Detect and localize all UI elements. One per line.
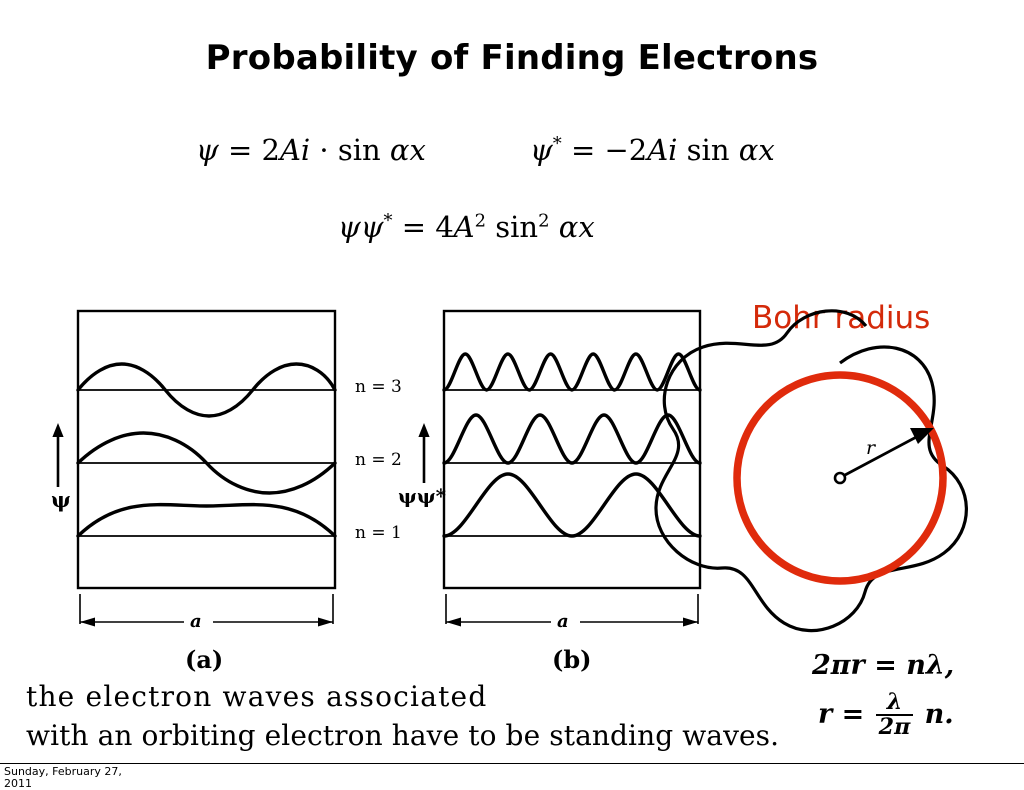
- bohr-radius-arrow-label: r: [866, 437, 875, 459]
- bohr-orbit-diagram: [656, 311, 966, 631]
- panel-a-dimension: [80, 594, 333, 627]
- panel-a-level-label-n3: n = 3: [355, 377, 402, 397]
- equation-circumference-lhs: 2πr: [812, 650, 865, 681]
- panel-a-y-axis-label: ψ: [51, 487, 71, 512]
- panel-a-y-axis-arrow: [52, 423, 63, 487]
- panel-a-level-label-n2: n = 2: [355, 450, 402, 470]
- panel-b-density-n3: [444, 354, 700, 390]
- panel-b: [418, 311, 700, 627]
- panel-a-wave-n1: [78, 505, 335, 536]
- equation-radius-fraction: λ 2π: [876, 691, 914, 738]
- radius-arrow: [845, 428, 934, 475]
- footer-divider: [0, 763, 1024, 764]
- panel-b-y-axis-arrow: [418, 423, 429, 483]
- panel-b-y-axis-label: ψψ*: [398, 484, 446, 508]
- panel-a-caption: (a): [185, 645, 223, 674]
- panel-b-dimension: [446, 594, 698, 627]
- panel-b-caption: (b): [552, 645, 592, 674]
- panel-b-density-n2: [444, 415, 700, 463]
- panel-a-x-axis-label: a: [190, 611, 202, 632]
- equation-radius-numerator: λ: [876, 691, 914, 714]
- panel-b-x-axis-label: a: [557, 611, 569, 632]
- equation-radius-lhs: r: [818, 699, 832, 730]
- panel-a: [52, 311, 335, 627]
- footer-date: Sunday, February 27, 2011: [4, 766, 122, 790]
- equation-radius-equals: =: [842, 699, 865, 730]
- panel-b-frame: [444, 311, 700, 588]
- caption-line-2: with an orbiting electron have to be sta…: [26, 717, 766, 756]
- equation-circumference-equals: =: [874, 650, 897, 681]
- orbit-center-dot: [835, 473, 845, 483]
- equation-radius-tail: n.: [925, 699, 954, 730]
- panel-a-frame: [78, 311, 335, 588]
- equation-circumference-rhs: nλ,: [906, 650, 954, 681]
- panel-a-level-label-n1: n = 1: [355, 523, 402, 543]
- equation-radius-denominator: 2π: [876, 714, 914, 739]
- standing-wave-orbit: [656, 311, 966, 631]
- caption-line-1: the electron waves associated: [26, 678, 766, 717]
- caption-text: the electron waves associated with an or…: [26, 678, 766, 755]
- slide-canvas: Probability of Finding Electrons ψ = 2Ai…: [0, 0, 1024, 788]
- footer-date-line-2: 2011: [4, 778, 122, 790]
- equation-circumference: 2πr = nλ,: [812, 650, 954, 681]
- equation-radius: r = λ 2π n.: [818, 692, 954, 739]
